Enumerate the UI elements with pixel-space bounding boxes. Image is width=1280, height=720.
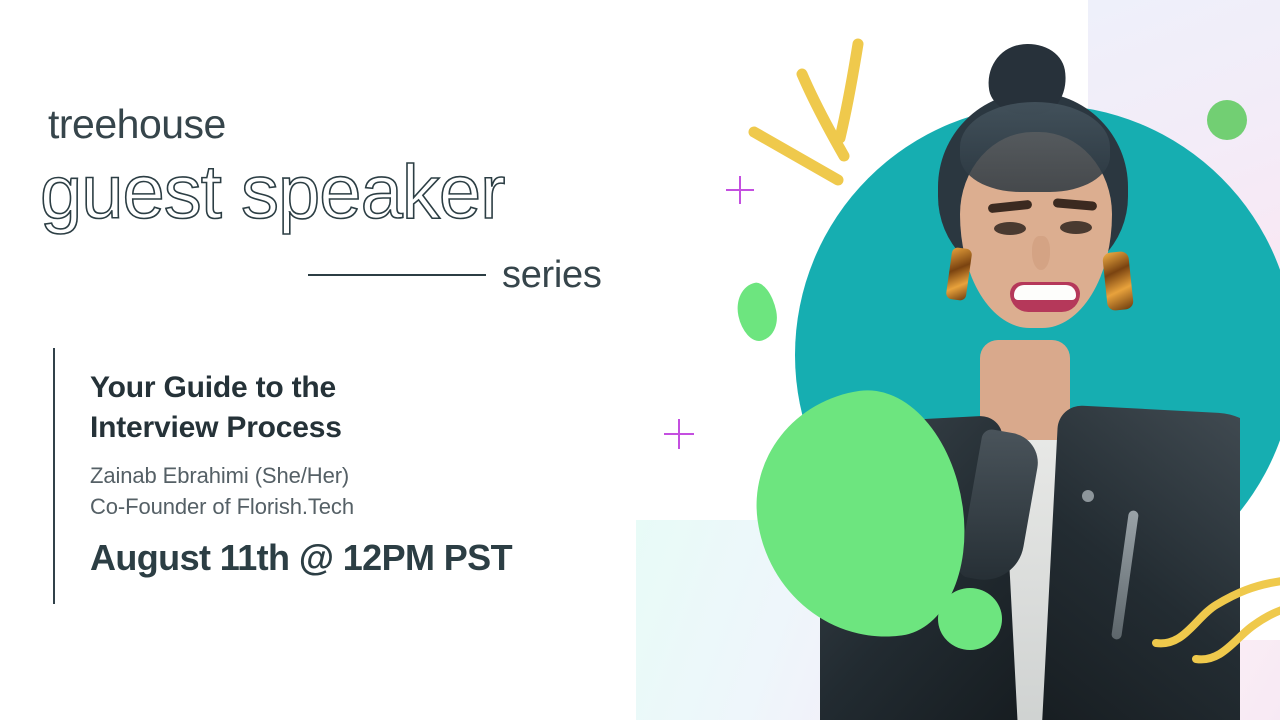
sparkle-icon [740, 30, 900, 200]
series-row: series [308, 252, 628, 298]
plus-mark-icon [664, 419, 694, 449]
event-title-line-1: Your Guide to the [90, 368, 630, 408]
eye-left [994, 222, 1026, 235]
eye-right [1060, 221, 1092, 234]
event-title-line-2: Interview Process [90, 408, 630, 448]
wave-squiggle-icon [1150, 575, 1280, 685]
nose [1032, 236, 1050, 270]
info-accent-rule [53, 348, 55, 604]
event-datetime: August 11th @ 12PM PST [90, 540, 630, 576]
event-speaker: Zainab Ebrahimi (She/Her) Co-Founder of … [90, 461, 630, 522]
earring-right [1102, 251, 1134, 311]
plus-mark-icon [726, 176, 754, 204]
series-divider-rule [308, 274, 486, 276]
jacket-stud [1082, 490, 1094, 502]
hair-front [960, 102, 1110, 192]
promo-slide: treehouse guest speaker series Your Guid… [0, 0, 1280, 720]
smiling-mouth [1010, 282, 1080, 312]
page-title: guest speaker [40, 155, 504, 231]
speaker-name: Zainab Ebrahimi (She/Her) [90, 461, 630, 491]
event-title: Your Guide to the Interview Process [90, 368, 630, 447]
earring-left [945, 247, 972, 301]
series-label: series [502, 256, 602, 294]
event-info-block: Your Guide to the Interview Process Zain… [90, 368, 630, 576]
teeth [1014, 285, 1076, 300]
speaker-role: Co-Founder of Florish.Tech [90, 492, 630, 522]
green-dot-bottom [938, 588, 1002, 650]
green-blob-small-left [732, 280, 781, 345]
brand-wordmark: treehouse [48, 104, 226, 145]
